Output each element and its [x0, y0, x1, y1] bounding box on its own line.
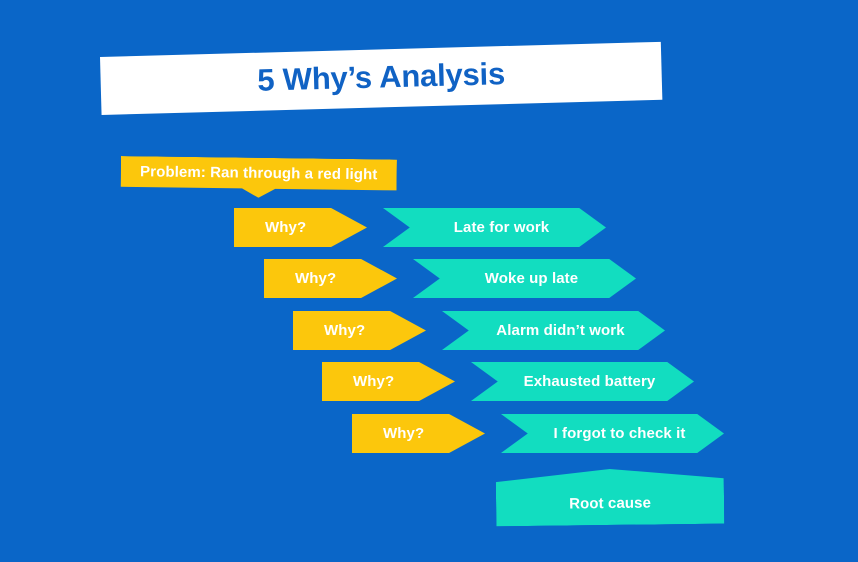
answer-label-2: Woke up late: [485, 270, 578, 287]
answer-label-5: I forgot to check it: [553, 425, 685, 442]
why-label-2: Why?: [264, 270, 336, 287]
root-cause-box: Root cause: [496, 468, 725, 527]
answer-chevron-2: Woke up late: [413, 259, 636, 298]
why-row-3: Why? Alarm didn’t work: [293, 311, 665, 351]
answer-label-4: Exhausted battery: [524, 373, 656, 390]
why-label-1: Why?: [234, 219, 306, 236]
five-whys-diagram: 5 Why’s Analysis Problem: Ran through a …: [0, 0, 858, 562]
why-row-5: Why? I forgot to check it: [352, 414, 724, 454]
root-cause-label: Root cause: [569, 495, 651, 513]
why-row-2: Why? Woke up late: [264, 259, 636, 299]
why-arrow-4: Why?: [322, 362, 455, 401]
why-arrow-1: Why?: [234, 208, 367, 247]
problem-label: Problem: Ran through a red light: [140, 163, 378, 183]
why-label-3: Why?: [293, 322, 365, 339]
why-arrow-3: Why?: [293, 311, 426, 350]
page-title: 5 Why’s Analysis: [257, 56, 506, 99]
answer-chevron-4: Exhausted battery: [471, 362, 694, 401]
why-label-5: Why?: [352, 425, 424, 442]
why-row-1: Why? Late for work: [234, 208, 606, 248]
answer-chevron-5: I forgot to check it: [501, 414, 724, 453]
why-label-4: Why?: [322, 373, 394, 390]
answer-label-3: Alarm didn’t work: [496, 322, 624, 339]
answer-chevron-1: Late for work: [383, 208, 606, 247]
why-arrow-5: Why?: [352, 414, 485, 453]
title-banner: 5 Why’s Analysis: [100, 42, 662, 115]
answer-chevron-3: Alarm didn’t work: [442, 311, 665, 350]
answer-label-1: Late for work: [454, 219, 549, 236]
problem-box: Problem: Ran through a red light: [120, 156, 396, 200]
why-row-4: Why? Exhausted battery: [322, 362, 694, 402]
why-arrow-2: Why?: [264, 259, 397, 298]
